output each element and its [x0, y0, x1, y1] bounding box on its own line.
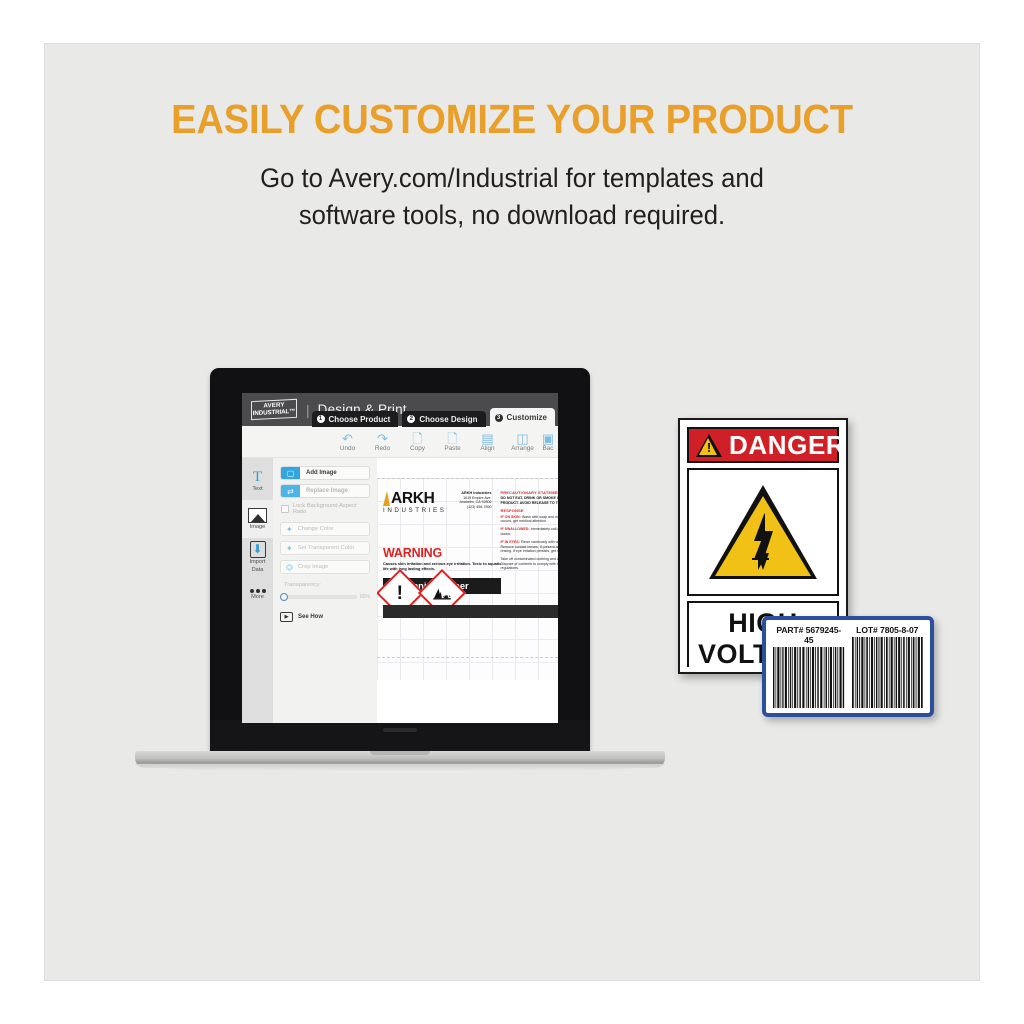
precautionary-body: DO NOT EAT, DRINK OR SMOKE WHEN USING TH…	[500, 496, 558, 504]
cut-line-bottom	[377, 657, 558, 658]
lock-aspect-ratio-checkbox[interactable]: Lock Background Aspect Ratio	[281, 503, 370, 515]
tab-label-choose-design: Choose Design	[419, 415, 477, 424]
company-address: ARKH Industries 1619 Empire Ave. Anaheim…	[459, 491, 491, 509]
address-phone: (123) 456-7890	[467, 505, 492, 509]
tab-label-customize: Customize	[507, 413, 547, 422]
precautionary-heading: PRECAUTIONARY STATEMENTS	[500, 491, 558, 495]
toolbar-redo[interactable]: ↷ Redo	[365, 432, 400, 452]
address-street: 1619 Empire Ave.	[463, 496, 491, 500]
arkh-logo: ARKH INDUSTRIES	[383, 491, 446, 514]
slider-knob[interactable]	[280, 593, 288, 601]
add-image-button[interactable]: ▢ Add Image	[280, 466, 370, 480]
response-lead-2: IF SWALLOWED:	[500, 527, 529, 531]
avery-industrial-logo: AVERY INDUSTRIAL™	[251, 399, 297, 420]
change-color-button[interactable]: ✦ Change Color	[280, 522, 370, 536]
electric-shock-icon	[709, 485, 817, 579]
toolbar-background[interactable]: ▣ Bac	[540, 432, 556, 452]
laptop-base-notch	[370, 751, 430, 755]
tab-number-3: 3	[495, 414, 503, 422]
background-icon: ▣	[540, 432, 556, 445]
slider-track[interactable]	[280, 595, 357, 599]
hazard-statement: Causes skin irritation and serious eye i…	[383, 561, 507, 571]
toolbar-undo[interactable]: ↶ Undo	[330, 432, 365, 452]
crop-image-label: Crop Image	[298, 564, 328, 570]
color-swatch-icon: ✦	[286, 525, 293, 534]
lot-number-caption: LOT# 7805-8-07	[852, 625, 924, 635]
transparency-value: 80%	[360, 594, 370, 600]
tab-number-1: 1	[317, 415, 325, 423]
part-number-caption: PART# 5679245-45	[773, 625, 845, 645]
address-company: ARKH Industries	[461, 491, 491, 495]
address-city: Anaheim, CA 92806	[459, 500, 491, 504]
laptop-bottom-bezel	[210, 720, 590, 753]
more-dots-icon	[250, 589, 266, 593]
edit-toolbar: ↶ Undo ↷ Redo 🗋 Copy 🗋 Paste ▤ Align	[242, 426, 558, 458]
danger-header: ! DANGER	[687, 427, 839, 463]
add-image-label: Add Image	[300, 470, 337, 476]
transparency-slider[interactable]: 80%	[280, 594, 370, 600]
warning-block: WARNING Causes skin irritation and serio…	[383, 547, 507, 610]
redo-icon: ↷	[365, 432, 400, 445]
response-lead-3: IF IN EYES:	[500, 540, 520, 544]
toolbar-undo-label: Undo	[340, 445, 355, 452]
text-tool-icon: T	[253, 470, 262, 485]
logo-line-2: INDUSTRIAL™	[253, 408, 296, 417]
design-and-print-app: AVERY INDUSTRIAL™ | Design & Print 1 Cho…	[242, 393, 558, 723]
arkh-wordmark: ARKH	[391, 491, 435, 506]
page-subtitle: Go to Avery.com/Industrial for templates…	[68, 160, 955, 234]
barcode-label-inner: PART# 5679245-45	[766, 620, 930, 713]
undo-icon: ↶	[330, 432, 365, 445]
see-how-button[interactable]: ▶ See How	[280, 612, 370, 622]
add-image-icon: ▢	[281, 467, 300, 479]
arkh-slash-icon	[383, 491, 390, 506]
rail-item-import-data[interactable]: ⬇ Import Data	[242, 538, 273, 576]
page-title: EASILY CUSTOMIZE YOUR PRODUCT	[78, 96, 947, 143]
toolbar-paste[interactable]: 🗋 Paste	[435, 432, 470, 452]
black-bar-field	[383, 605, 558, 618]
tab-label-choose-product: Choose Product	[329, 415, 391, 424]
crop-icon: ⏣	[286, 563, 293, 572]
part-barcode-icon	[773, 647, 845, 708]
app-header: AVERY INDUSTRIAL™ | Design & Print 1 Cho…	[242, 393, 558, 426]
laptop-base-lip	[135, 764, 665, 773]
part-number-block: PART# 5679245-45	[773, 625, 845, 708]
precautionary-column: PRECAUTIONARY STATEMENTS DO NOT EAT, DRI…	[500, 491, 558, 575]
toolbar-align[interactable]: ▤ Align	[470, 432, 505, 452]
rail-label-text: Text	[252, 486, 262, 493]
transparency-label: Transparency:	[284, 582, 370, 588]
arkh-subtitle: INDUSTRIES	[383, 507, 446, 514]
toolbar-copy-label: Copy	[410, 445, 425, 452]
tab-choose-product[interactable]: 1 Choose Product	[312, 411, 399, 427]
step-tabs: 1 Choose Product 2 Choose Design 3 Custo…	[308, 408, 555, 427]
disposal-text: Take off contaminated clothing and wash …	[500, 557, 558, 570]
tool-rail: T Text Image ⬇ Import Data More	[242, 458, 273, 723]
rail-label-import-2: Data	[252, 567, 264, 574]
rail-item-image[interactable]: Image	[242, 500, 273, 538]
toolbar-redo-label: Redo	[375, 445, 390, 452]
replace-image-button[interactable]: ⇄ Replace Image	[280, 484, 370, 498]
see-how-label: See How	[298, 614, 323, 620]
replace-image-icon: ⇄	[281, 485, 300, 497]
chemical-label-artwork[interactable]: ARKH INDUSTRIES ARKH Industries 1619 Emp…	[379, 485, 558, 637]
tab-choose-design[interactable]: 2 Choose Design	[402, 411, 485, 427]
align-icon: ▤	[470, 432, 505, 445]
warning-triangle-icon: !	[696, 434, 722, 457]
laptop-mockup: AVERY INDUSTRIAL™ | Design & Print 1 Cho…	[205, 368, 595, 788]
arrange-icon: ◫	[505, 432, 540, 445]
rail-item-text[interactable]: T Text	[242, 462, 273, 500]
import-data-icon: ⬇	[250, 541, 266, 558]
copy-icon: 🗋	[400, 432, 435, 445]
lock-aspect-ratio-label: Lock Background Aspect Ratio	[293, 503, 370, 515]
lot-barcode-icon	[852, 637, 924, 708]
rail-label-more: More	[251, 594, 264, 601]
signal-word: WARNING	[383, 547, 507, 560]
laptop-notch	[383, 728, 417, 732]
subtitle-line-2: software tools, no download required.	[68, 197, 955, 234]
paste-icon: 🗋	[435, 432, 470, 445]
set-transparent-color-label: Set Transparent Color	[298, 545, 355, 551]
toolbar-align-label: Align	[480, 445, 494, 452]
response-heading: RESPONSE	[500, 509, 558, 513]
lot-number-block: LOT# 7805-8-07	[852, 625, 924, 708]
rail-label-import-1: Import	[250, 559, 266, 566]
lightning-bolt-icon	[751, 513, 775, 571]
subtitle-line-1: Go to Avery.com/Industrial for templates…	[68, 160, 955, 197]
checkbox-icon	[281, 505, 289, 513]
toolbar-paste-label: Paste	[444, 445, 460, 452]
promo-image: EASILY CUSTOMIZE YOUR PRODUCT Go to Aver…	[0, 0, 1024, 1024]
toolbar-arrange-label: Arrange	[511, 445, 534, 452]
set-transparent-color-button[interactable]: ✦ Set Transparent Color	[280, 541, 370, 555]
response-lead-1: IF ON SKIN:	[500, 515, 520, 519]
tab-number-2: 2	[407, 415, 415, 423]
replace-image-label: Replace Image	[300, 488, 348, 494]
toolbar-arrange[interactable]: ◫ Arrange	[505, 432, 540, 452]
exclamation-icon: !	[397, 583, 403, 602]
rail-label-image: Image	[250, 524, 266, 531]
play-icon: ▶	[280, 612, 293, 622]
danger-signal-word: DANGER	[729, 430, 845, 461]
workspace: T Text Image ⬇ Import Data More	[242, 458, 558, 723]
transparent-color-icon: ✦	[286, 544, 293, 553]
part-lot-barcode-label: PART# 5679245-45	[762, 616, 934, 717]
change-color-label: Change Color	[298, 526, 334, 532]
toolbar-background-label: Bac	[542, 445, 553, 452]
dead-fish-tree-icon	[432, 583, 453, 604]
rail-item-more[interactable]: More	[242, 576, 273, 614]
danger-symbol-panel	[687, 468, 839, 596]
image-tool-icon	[248, 508, 267, 523]
design-canvas[interactable]: ARKH INDUSTRIES ARKH Industries 1619 Emp…	[377, 458, 558, 723]
image-options-panel: ▢ Add Image ⇄ Replace Image Lock Backgro…	[273, 458, 377, 723]
crop-image-button[interactable]: ⏣ Crop Image	[280, 560, 370, 574]
toolbar-copy[interactable]: 🗋 Copy	[400, 432, 435, 452]
cut-line-top	[377, 478, 558, 479]
tab-customize[interactable]: 3 Customize	[490, 408, 555, 427]
